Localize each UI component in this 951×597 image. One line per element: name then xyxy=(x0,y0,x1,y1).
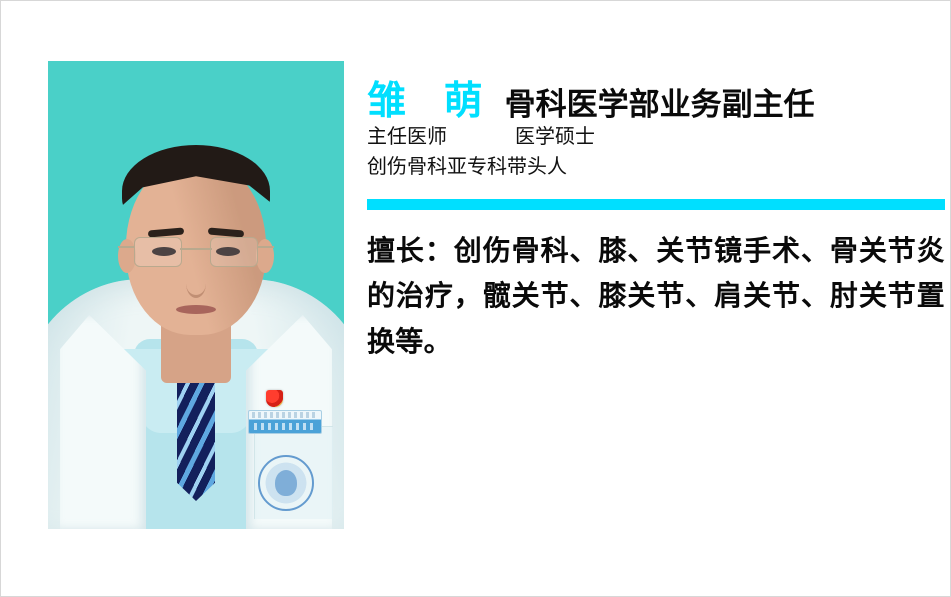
doctor-info-panel: 雏 萌 骨科医学部业务副主任 主任医师 医学硕士 创伤骨科亚专科带头人 擅长：创… xyxy=(367,61,945,364)
credential-rank: 主任医师 xyxy=(367,121,515,151)
name-tag-bottom-line xyxy=(254,423,316,430)
eyeglasses-icon xyxy=(132,237,260,267)
specialty-description: 擅长：创伤骨科、膝、关节镜手术、骨关节炎的治疗，髋关节、膝关节、肩关节、肘关节置… xyxy=(367,228,945,364)
mouth xyxy=(176,305,216,314)
credential-row-2: 创伤骨科亚专科带头人 xyxy=(367,151,945,181)
eyeglass-temple-right xyxy=(258,246,274,248)
doctor-portrait-photo xyxy=(48,61,344,529)
headline-row: 雏 萌 骨科医学部业务副主任 xyxy=(367,61,945,121)
doctor-name: 雏 萌 xyxy=(367,82,495,121)
hospital-name-tag xyxy=(248,410,322,434)
eyeglass-bridge xyxy=(180,248,212,250)
credential-row-1: 主任医师 医学硕士 xyxy=(367,121,945,151)
nose xyxy=(186,269,206,298)
credential-subspecialty-lead: 创伤骨科亚专科带头人 xyxy=(367,151,515,181)
eyeglass-temple-left xyxy=(118,246,134,248)
eyeglass-lens-right xyxy=(210,237,258,267)
accent-divider xyxy=(367,199,945,210)
necktie xyxy=(177,371,215,501)
credential-degree: 医学硕士 xyxy=(515,121,595,151)
eyeglass-lens-left xyxy=(134,237,182,267)
name-tag-top-line xyxy=(252,412,318,418)
hospital-seal-icon xyxy=(258,455,314,511)
doctor-position-title: 骨科医学部业务副主任 xyxy=(505,90,815,121)
party-emblem-pin-icon xyxy=(266,390,283,407)
doctor-profile-card: 雏 萌 骨科医学部业务副主任 主任医师 医学硕士 创伤骨科亚专科带头人 擅长：创… xyxy=(0,0,951,597)
